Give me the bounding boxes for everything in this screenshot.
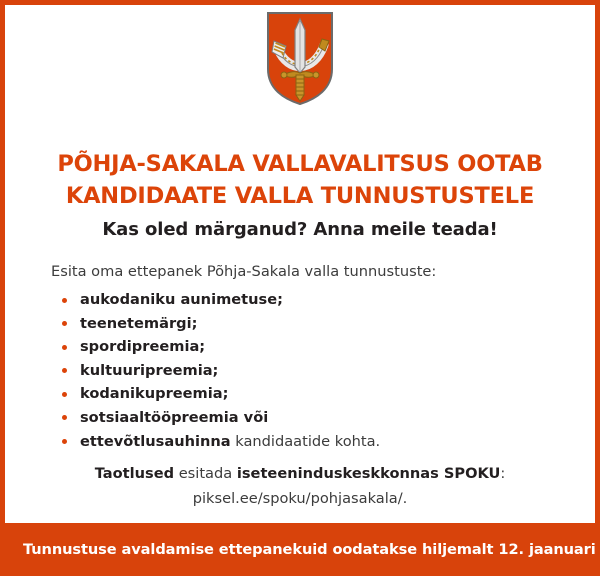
award-label: spordipreemia; [80, 338, 205, 355]
apply-mid-text: esitada [174, 465, 237, 482]
bullet-dot-icon [62, 415, 67, 420]
list-item: ettevõtlusauhinna kandidaatide kohta. [51, 430, 549, 454]
award-label: ettevõtlusauhinna [80, 433, 231, 450]
list-item: kultuuripreemia; [51, 359, 549, 383]
page-title: PÕHJA-SAKALA VALLAVALITSUS OOTAB KANDIDA… [5, 148, 595, 212]
bullet-dot-icon [62, 392, 67, 397]
spoku-url[interactable]: piksel.ee/spoku/pohjasakala/. [5, 486, 595, 511]
award-label: teenetemärgi; [80, 315, 197, 332]
bullet-dot-icon [62, 368, 67, 373]
announcement-poster: PÕHJA-SAKALA VALLAVALITSUS OOTAB KANDIDA… [0, 0, 600, 576]
page-title-line-2: KANDIDAATE VALLA TUNNUSTUSTELE [5, 180, 595, 212]
apply-strong-spoku: iseteeninduskeskkonnas SPOKU [237, 465, 501, 482]
award-tail: kandidaatide kohta. [231, 433, 381, 450]
award-label: sotsiaaltööpreemia või [80, 409, 268, 426]
apply-strong-taotlused: Taotlused [95, 465, 174, 482]
deadline-footer-bar: Tunnustuse avaldamise ettepanekuid oodat… [0, 523, 600, 576]
list-item: sotsiaaltööpreemia või [51, 406, 549, 430]
page-title-line-1: PÕHJA-SAKALA VALLAVALITSUS OOTAB [57, 151, 542, 177]
award-label: kodanikupreemia; [80, 385, 228, 402]
bullet-dot-icon [62, 439, 67, 444]
list-item: aukodaniku aunimetuse; [51, 288, 549, 312]
application-note: Taotlused esitada iseteeninduskeskkonnas… [5, 461, 595, 511]
award-label: aukodaniku aunimetuse; [80, 291, 283, 308]
list-item: kodanikupreemia; [51, 382, 549, 406]
bullet-dot-icon [62, 298, 67, 303]
list-item: teenetemärgi; [51, 312, 549, 336]
award-label: kultuuripreemia; [80, 362, 218, 379]
bullet-dot-icon [62, 345, 67, 350]
awards-list: aukodaniku aunimetuse; teenetemärgi; spo… [51, 288, 549, 453]
bullet-dot-icon [62, 321, 67, 326]
body-content: Esita oma ettepanek Põhja-Sakala valla t… [51, 262, 549, 453]
coat-of-arms-shield-sword-horn-icon [266, 11, 334, 106]
apply-colon: : [500, 465, 505, 482]
coat-of-arms [5, 11, 595, 111]
intro-text: Esita oma ettepanek Põhja-Sakala valla t… [51, 262, 549, 282]
subtitle: Kas oled märganud? Anna meile teada! [5, 217, 595, 243]
list-item: spordipreemia; [51, 335, 549, 359]
deadline-text: Tunnustuse avaldamise ettepanekuid oodat… [0, 540, 600, 560]
